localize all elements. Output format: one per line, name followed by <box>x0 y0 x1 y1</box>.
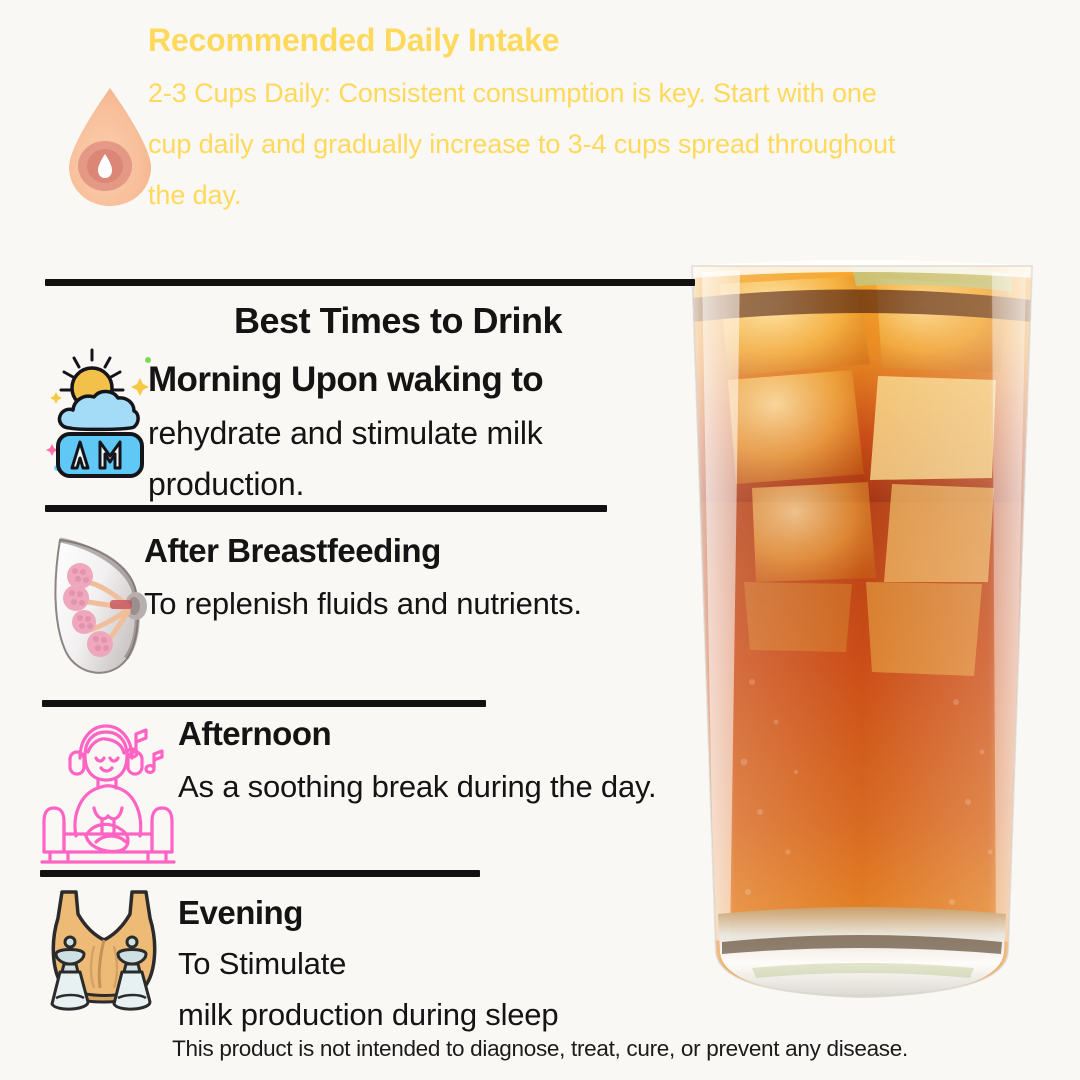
after-breastfeeding-lead: After Breastfeeding <box>144 532 441 569</box>
morning-lead: Morning <box>148 360 282 399</box>
afternoon-body: As a soothing break during the day. <box>178 761 678 813</box>
breast-pump-icon <box>32 884 177 1018</box>
intake-title: Recommended Daily Intake <box>148 20 908 60</box>
iced-tea-glass-photo <box>656 252 1068 1014</box>
divider-1 <box>45 279 695 286</box>
recommended-daily-intake-block: Recommended Daily Intake 2-3 Cups Daily:… <box>0 0 930 278</box>
morning-lead-rest: Upon waking to <box>282 360 543 399</box>
intake-text-group: Recommended Daily Intake 2-3 Cups Daily:… <box>148 20 908 220</box>
morning-text: Morning Upon waking to rehydrate and sti… <box>148 352 658 510</box>
intake-body: 2-3 Cups Daily: Consistent consumption i… <box>148 68 908 220</box>
breast-anatomy-icon <box>44 530 156 680</box>
evening-body-line1: To Stimulate <box>178 939 678 989</box>
morning-line1: Morning Upon waking to <box>148 352 658 408</box>
time-block-afternoon: Afternoon As a soothing break during the… <box>0 706 680 871</box>
sun-cloud-am-icon <box>44 340 164 480</box>
evening-body-line2: milk production during sleep <box>178 990 678 1040</box>
after-breastfeeding-body: To replenish fluids and nutrients. <box>144 578 664 629</box>
disclaimer-text: This product is not intended to diagnose… <box>0 1036 1080 1062</box>
afternoon-text: Afternoon As a soothing break during the… <box>178 706 678 814</box>
infographic-page: Recommended Daily Intake 2-3 Cups Daily:… <box>0 0 1080 1080</box>
morning-body: rehydrate and stimulate milk production. <box>148 408 658 510</box>
divider-4 <box>40 870 480 877</box>
evening-text: Evening To Stimulate milk production dur… <box>178 886 678 1040</box>
afternoon-lead: Afternoon <box>178 715 331 752</box>
time-block-evening: Evening To Stimulate milk production dur… <box>0 878 700 1038</box>
relaxing-woman-headphones-icon <box>38 712 178 864</box>
time-block-after-breastfeeding: After Breastfeeding To replenish fluids … <box>0 512 680 692</box>
time-block-morning: Morning Upon waking to rehydrate and sti… <box>0 300 680 500</box>
after-breastfeeding-text: After Breastfeeding To replenish fluids … <box>144 524 664 630</box>
evening-lead: Evening <box>178 894 303 931</box>
